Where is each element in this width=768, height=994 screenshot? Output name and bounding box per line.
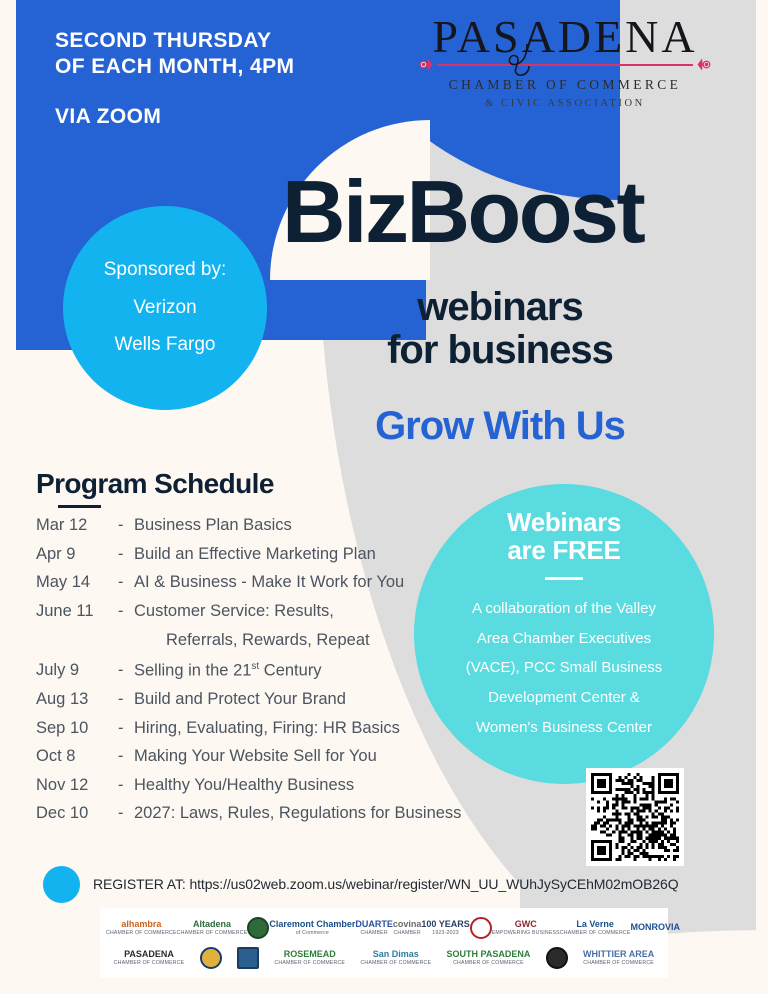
background-mask-right <box>756 0 768 994</box>
partner-logo-subtitle: EMPOWERING BUSINESS <box>492 930 560 936</box>
partner-logo: SOUTH PASADENACHAMBER OF COMMERCE <box>446 949 530 967</box>
schedule-dash: - <box>118 517 134 534</box>
rose-left-icon <box>419 57 434 72</box>
logo-swirl-icon <box>503 40 543 80</box>
partner-logo-subtitle: CHAMBER OF COMMERCE <box>106 930 177 936</box>
schedule-dash: - <box>118 662 134 679</box>
subtitle-line-1: webinars <box>282 286 718 329</box>
partner-logo-subtitle: CHAMBER OF COMMERCE <box>560 930 631 936</box>
schedule-dash: - <box>118 805 134 822</box>
partner-logo: covinaCHAMBER <box>393 919 422 937</box>
sponsor-circle: Sponsored by: Verizon Wells Fargo <box>63 206 267 410</box>
free-body-line-1: A collaboration of the Valley <box>434 594 694 624</box>
partner-logo: ROSEMEADCHAMBER OF COMMERCE <box>274 949 345 967</box>
schedule-topic: Customer Service: Results, <box>134 603 334 620</box>
schedule-topic: Healthy You/Healthy Business <box>134 777 354 794</box>
partner-logo-name: MONROVIA <box>631 922 681 933</box>
pasadena-chamber-logo: PASADENA CHAMBER OF COMMERCE & CIVIC ASS… <box>415 14 715 109</box>
schedule-topic: 2027: Laws, Rules, Regulations for Busin… <box>134 805 461 822</box>
partner-logo-name: alhambra <box>106 919 177 930</box>
free-heading-underline <box>545 577 583 580</box>
partner-logo-name: Altadena <box>177 919 248 930</box>
partner-logo: MONROVIA <box>631 922 681 933</box>
partner-logo: DUARTECHAMBER <box>355 919 393 937</box>
schedule-row: Mar 12-Business Plan Basics <box>36 517 466 534</box>
schedule-topic: Build an Effective Marketing Plan <box>134 546 376 563</box>
schedule-row: Dec 10-2027: Laws, Rules, Regulations fo… <box>36 805 466 822</box>
qr-code-image <box>591 773 679 861</box>
schedule-topic: Selling in the 21st Century <box>134 662 322 679</box>
partner-logo: Claremont Chamberof Commerce <box>269 919 355 937</box>
partner-logo-subtitle: 1923-2023 <box>432 930 459 936</box>
partner-logo: AltadenaCHAMBER OF COMMERCE <box>177 919 248 937</box>
partner-logo-subtitle: CHAMBER OF COMMERCE <box>177 930 248 936</box>
register-link[interactable]: REGISTER AT: https://us02web.zoom.us/web… <box>93 876 679 892</box>
chamber-logo-name: PASADENA <box>415 14 715 60</box>
partner-logo-subtitle: CHAMBER <box>393 930 420 936</box>
schedule-row: Oct 8-Making Your Website Sell for You <box>36 748 466 765</box>
schedule-row: July 9-Selling in the 21st Century <box>36 662 466 679</box>
free-body-line-4: Development Center & <box>434 683 694 713</box>
schedule-dash: - <box>118 748 134 765</box>
partner-logo-name: PASADENA <box>114 949 185 960</box>
partner-logo-seal-red <box>470 917 492 939</box>
schedule-topic: Making Your Website Sell for You <box>134 748 377 765</box>
schedule-date: Dec 10 <box>36 805 118 822</box>
schedule-date: June 11 <box>36 603 118 620</box>
free-body-line-5: Women's Business Center <box>434 713 694 743</box>
free-body-line-3: (VACE), PCC Small Business <box>434 653 694 683</box>
partner-logo-seal-gold <box>200 947 222 969</box>
partner-logo-row-2: PASADENACHAMBER OF COMMERCEROSEMEADCHAMB… <box>106 943 662 973</box>
free-body-line-2: Area Chamber Executives <box>434 624 694 654</box>
partner-logo-subtitle: CHAMBER OF COMMERCE <box>274 960 345 966</box>
partner-logo-name: SOUTH PASADENA <box>446 949 530 960</box>
partner-logo: GWCEMPOWERING BUSINESS <box>492 919 560 937</box>
page-title: BizBoost <box>282 168 643 256</box>
schedule-row: Apr 9-Build an Effective Marketing Plan <box>36 546 466 563</box>
partner-logo-name: La Verne <box>560 919 631 930</box>
partner-logo-seal-dark <box>546 947 568 969</box>
partner-logo-name: DUARTE <box>355 919 393 930</box>
schedule-date: May 14 <box>36 574 118 591</box>
header-line-1: SECOND THURSDAY <box>55 28 294 54</box>
sponsor-verizon: Verizon <box>133 298 196 319</box>
chamber-rule-line <box>437 64 693 66</box>
schedule-title-underline <box>58 505 101 508</box>
partner-logo-subtitle: CHAMBER OF COMMERCE <box>453 960 524 966</box>
poster-canvas: SECOND THURSDAY OF EACH MONTH, 4PM VIA Z… <box>0 0 768 994</box>
chamber-logo-rule <box>415 56 715 72</box>
page-tagline: Grow With Us <box>282 404 718 449</box>
schedule-date: Mar 12 <box>36 517 118 534</box>
schedule-row: Sep 10-Hiring, Evaluating, Firing: HR Ba… <box>36 720 466 737</box>
partner-logo-name: WHITTIER AREA <box>583 949 654 960</box>
chamber-logo-subtitle-1: CHAMBER OF COMMERCE <box>415 77 715 93</box>
partner-logo-name: covina <box>393 919 422 930</box>
partner-logo-subtitle: CHAMBER OF COMMERCE <box>360 960 431 966</box>
partner-logo: San DimasCHAMBER OF COMMERCE <box>360 949 431 967</box>
schedule-row: June 11-Customer Service: Results, <box>36 603 466 620</box>
schedule-dash: - <box>118 574 134 591</box>
schedule-title: Program Schedule <box>36 468 466 500</box>
schedule-date: Sep 10 <box>36 720 118 737</box>
rose-right-icon <box>696 57 711 72</box>
partner-logo: alhambraCHAMBER OF COMMERCE <box>106 919 177 937</box>
schedule-dash: - <box>118 546 134 563</box>
event-schedule-header: SECOND THURSDAY OF EACH MONTH, 4PM VIA Z… <box>55 28 294 129</box>
program-schedule-section: Program Schedule Mar 12-Business Plan Ba… <box>36 468 466 834</box>
schedule-topic: Business Plan Basics <box>134 517 292 534</box>
partner-logo-name: GWC <box>492 919 560 930</box>
partner-logo-name: Claremont Chamber <box>269 919 355 930</box>
partner-logo-SAN GABRIEL VALLEY <box>237 947 259 969</box>
partner-logo-name: San Dimas <box>360 949 431 960</box>
schedule-list: Mar 12-Business Plan BasicsApr 9-Build a… <box>36 517 466 822</box>
sponsor-wells-fargo: Wells Fargo <box>114 335 215 356</box>
schedule-date: Apr 9 <box>36 546 118 563</box>
schedule-topic: AI & Business - Make It Work for You <box>134 574 404 591</box>
partner-logo: 100 YEARS1923-2023 <box>421 919 469 937</box>
schedule-date: Oct 8 <box>36 748 118 765</box>
partner-logo: WHITTIER AREACHAMBER OF COMMERCE <box>583 949 654 967</box>
schedule-topic: Hiring, Evaluating, Firing: HR Basics <box>134 720 400 737</box>
partner-logo-subtitle: CHAMBER <box>360 930 387 936</box>
qr-code[interactable] <box>586 768 684 866</box>
partner-logo-subtitle: CHAMBER OF COMMERCE <box>114 960 185 966</box>
schedule-date: Nov 12 <box>36 777 118 794</box>
header-via-zoom: VIA ZOOM <box>55 105 294 129</box>
register-bullet-icon <box>43 866 80 903</box>
partner-logo-strip: alhambraCHAMBER OF COMMERCEAltadenaCHAMB… <box>100 908 668 978</box>
sponsor-heading: Sponsored by: <box>104 260 227 281</box>
schedule-topic-superscript: st <box>251 661 259 672</box>
partner-logo-subtitle: of Commerce <box>296 930 329 936</box>
partner-logo-subtitle: CHAMBER OF COMMERCE <box>583 960 654 966</box>
partner-logo-name: 100 YEARS <box>421 919 469 930</box>
page-subtitle: webinars for business <box>282 286 718 372</box>
partner-logo: PASADENACHAMBER OF COMMERCE <box>114 949 185 967</box>
schedule-row: May 14-AI & Business - Make It Work for … <box>36 574 466 591</box>
schedule-row: Aug 13-Build and Protect Your Brand <box>36 691 466 708</box>
partner-logo: La VerneCHAMBER OF COMMERCE <box>560 919 631 937</box>
schedule-dash: - <box>118 777 134 794</box>
schedule-dash: - <box>118 603 134 620</box>
schedule-dash: - <box>118 691 134 708</box>
chamber-logo-subtitle-2: & CIVIC ASSOCIATION <box>415 98 715 109</box>
schedule-date: July 9 <box>36 662 118 679</box>
schedule-date: Aug 13 <box>36 691 118 708</box>
background-mask-bottom <box>0 978 768 994</box>
subtitle-line-2: for business <box>282 329 718 372</box>
schedule-row-continuation: Referrals, Rewards, Repeat <box>36 631 466 650</box>
schedule-row: Nov 12-Healthy You/Healthy Business <box>36 777 466 794</box>
schedule-dash: - <box>118 720 134 737</box>
partner-logo-seal-green <box>247 917 269 939</box>
header-line-2: OF EACH MONTH, 4PM <box>55 54 294 80</box>
schedule-topic: Build and Protect Your Brand <box>134 691 346 708</box>
partner-logo-row-1: alhambraCHAMBER OF COMMERCEAltadenaCHAMB… <box>106 913 662 943</box>
partner-logo-name: ROSEMEAD <box>274 949 345 960</box>
